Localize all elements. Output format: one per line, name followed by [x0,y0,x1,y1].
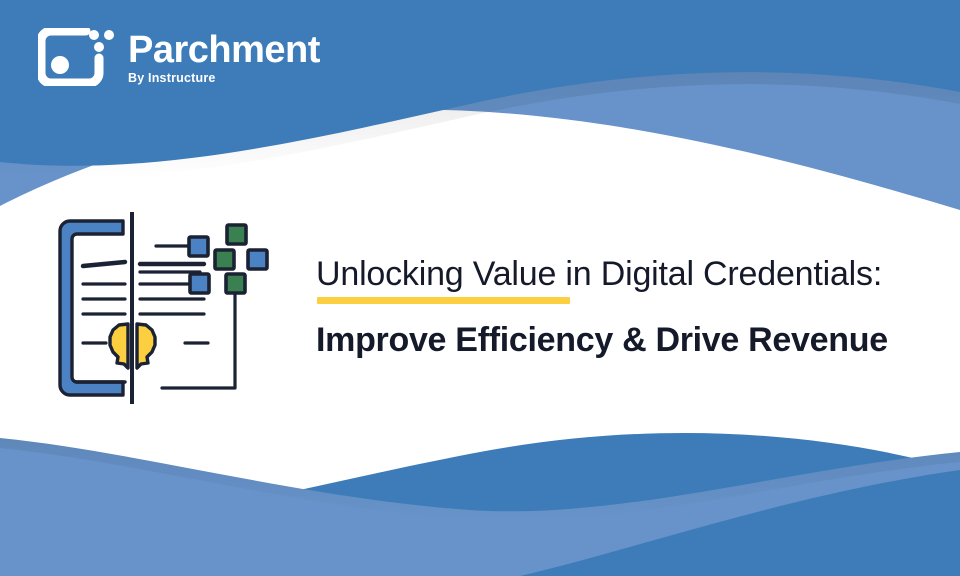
node-square-blue-2 [248,250,267,269]
headline-line-1: Unlocking Value in Digital Credentials: [316,252,916,296]
headline-block: Unlocking Value in Digital Credentials: … [316,252,916,362]
seal-left-half [110,324,128,368]
node-square-blue-3 [190,274,209,293]
node-square-green-3 [226,274,245,293]
brand-logo[interactable]: Parchment By Instructure [38,28,320,86]
headline-line-1-wrap: Unlocking Value in Digital Credentials: [316,252,916,296]
headline-accent-underline [317,297,570,304]
digital-credential-document-icon [52,212,280,404]
node-square-blue-1 [189,237,208,256]
doc-line-left-heading [83,262,125,266]
promo-banner: Parchment By Instructure [0,0,960,576]
logo-tagline: By Instructure [128,71,320,86]
document-left-frame [60,221,123,395]
node-square-green-1 [227,225,246,244]
node-square-green-2 [215,250,234,269]
parchment-frame-icon [38,28,114,86]
logo-wordmark: Parchment [128,28,320,72]
headline-line-2: Improve Efficiency & Drive Revenue [316,318,916,362]
logo-text-group: Parchment By Instructure [128,28,320,86]
